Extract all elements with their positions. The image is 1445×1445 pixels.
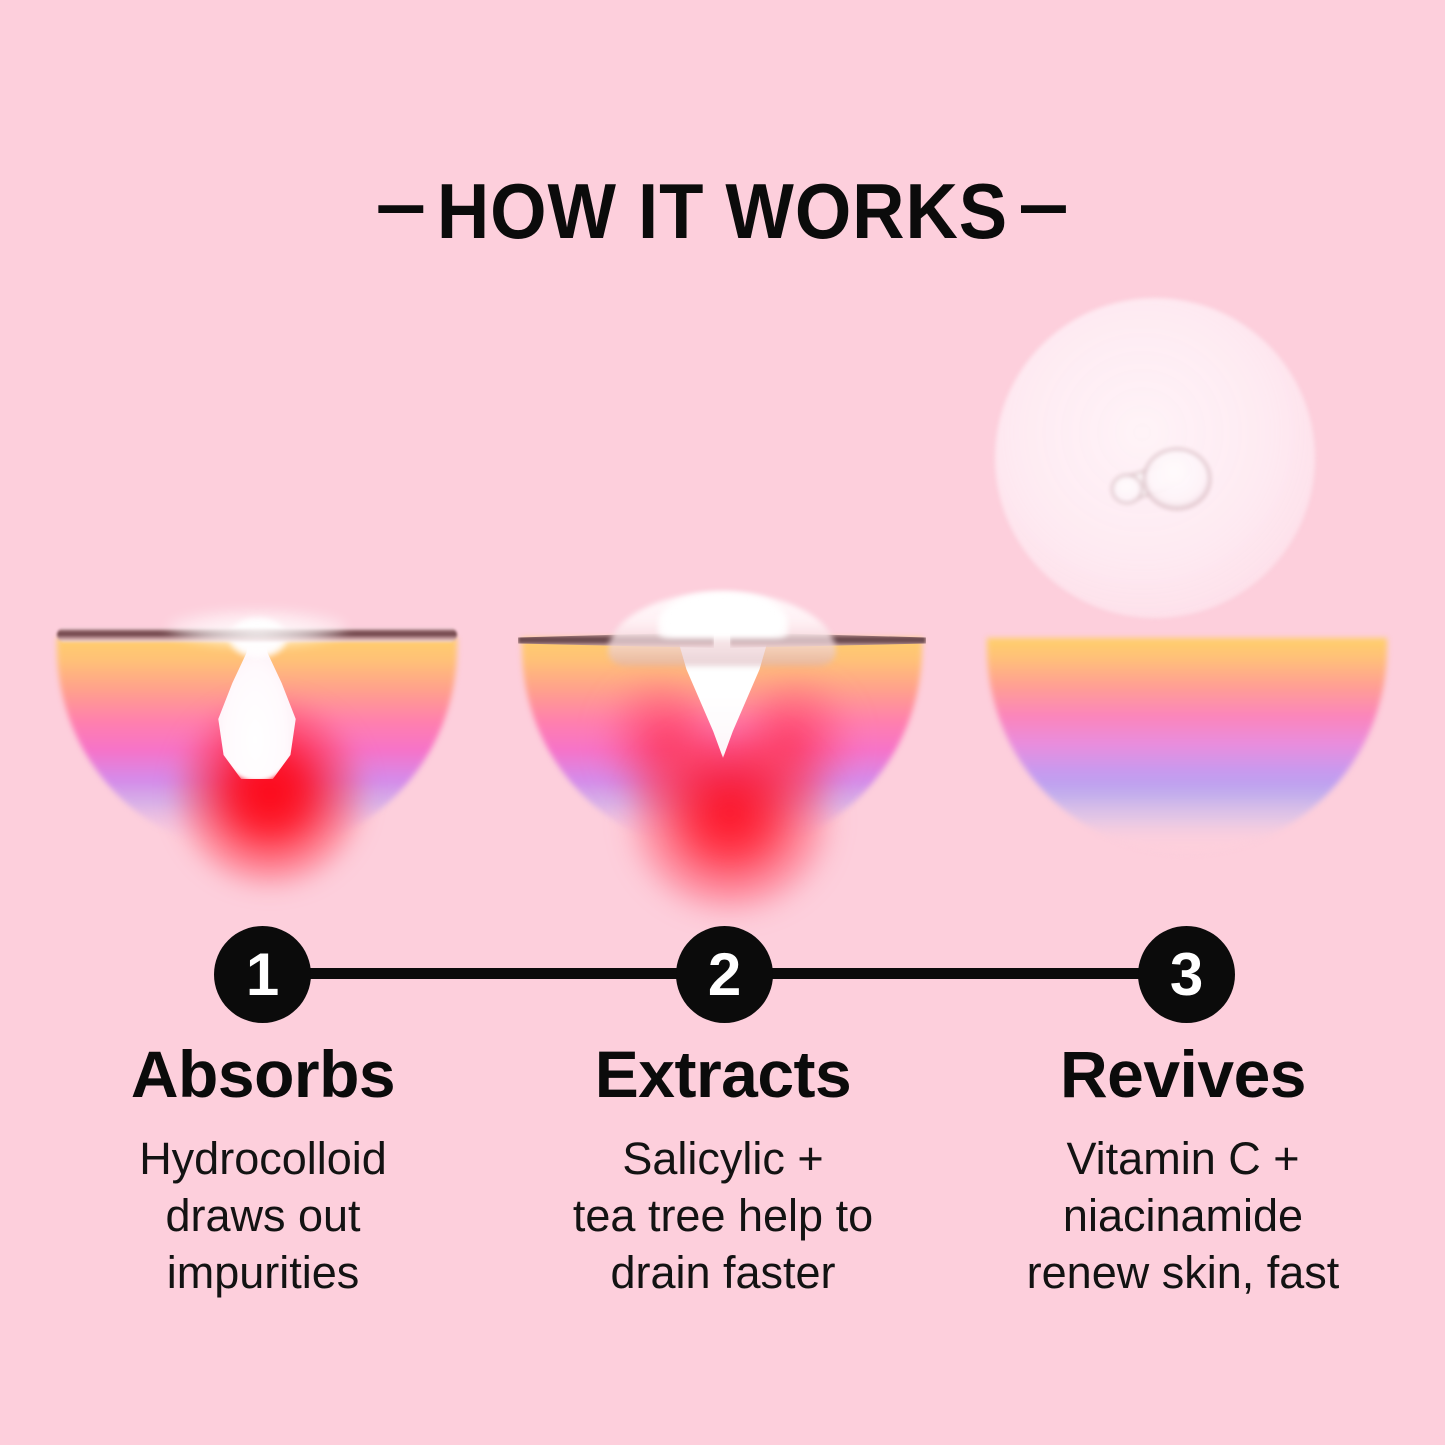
illustration-revives (977, 280, 1397, 880)
step-description-3-line-3: renew skin, fast (963, 1245, 1403, 1302)
step-column-2: Extracts Salicylic + tea tree help to dr… (503, 1040, 943, 1301)
step-description-2-line-2: tea tree help to (503, 1188, 943, 1245)
step-description-1-line-3: impurities (43, 1245, 483, 1302)
infographic-canvas: –HOW IT WORKS– (0, 0, 1445, 1445)
title-text: HOW IT WORKS (437, 167, 1008, 255)
step-description-2: Salicylic + tea tree help to drain faste… (503, 1131, 943, 1301)
title-dash-right: – (1018, 164, 1070, 242)
step-description-2-line-1: Salicylic + (503, 1131, 943, 1188)
step-description-1: Hydrocolloid draws out impurities (43, 1131, 483, 1301)
step-description-2-line-3: drain faster (503, 1245, 943, 1302)
step-title-1: Absorbs (43, 1040, 483, 1109)
step-number-badge-2: 2 (676, 926, 773, 1023)
step-description-3: Vitamin C + niacinamide renew skin, fast (963, 1131, 1403, 1301)
timeline-connector-2-3 (762, 968, 1187, 979)
patch-highlight-icon (167, 610, 347, 644)
step-description-1-line-2: draws out (43, 1188, 483, 1245)
gunk-blob-small-icon (1111, 474, 1143, 504)
illustration-absorbs (47, 280, 467, 880)
title-dash-left: – (376, 164, 428, 242)
step-timeline: 1 2 3 (0, 926, 1445, 1026)
healed-skin-cross-section-icon (987, 638, 1387, 853)
step-text-columns: Absorbs Hydrocolloid draws out impuritie… (0, 1040, 1445, 1340)
used-patch-disc-icon (995, 298, 1315, 618)
step-column-1: Absorbs Hydrocolloid draws out impuritie… (43, 1040, 483, 1301)
page-title: –HOW IT WORKS– (51, 172, 1395, 250)
step-description-3-line-2: niacinamide (963, 1188, 1403, 1245)
step-title-2: Extracts (503, 1040, 943, 1109)
illustration-band (0, 280, 1445, 880)
step-description-3-line-1: Vitamin C + (963, 1131, 1403, 1188)
step-number-badge-3: 3 (1138, 926, 1235, 1023)
gunk-blob-large-icon (1143, 448, 1211, 510)
step-number-badge-1: 1 (214, 926, 311, 1023)
step-title-3: Revives (963, 1040, 1403, 1109)
illustration-extracts (512, 280, 932, 880)
timeline-connector-1-2 (300, 968, 725, 979)
step-description-1-line-1: Hydrocolloid (43, 1131, 483, 1188)
step-column-3: Revives Vitamin C + niacinamide renew sk… (963, 1040, 1403, 1301)
